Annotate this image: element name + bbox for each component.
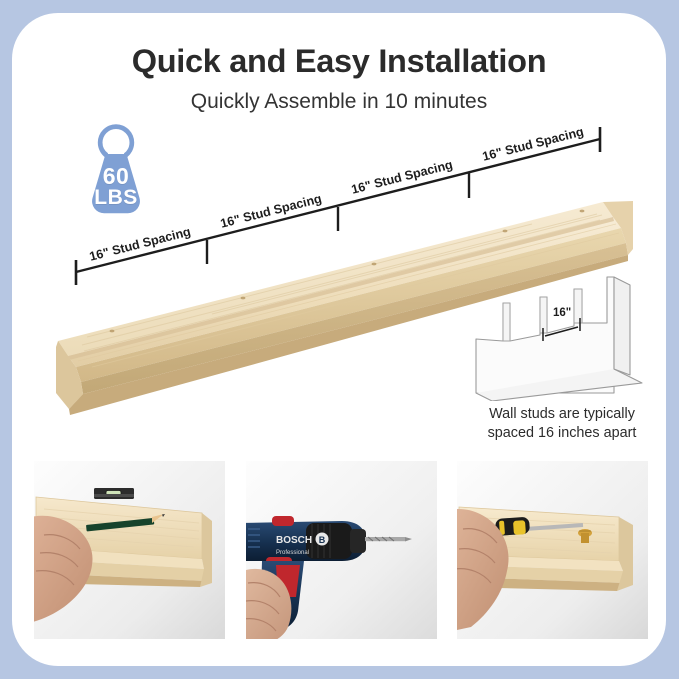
spirit-level — [94, 488, 134, 499]
dimension-label-segment-2: 16" Stud Spacing — [219, 192, 323, 231]
product-infographic: Quick and Easy Installation Quickly Asse… — [0, 0, 679, 679]
installation-steps-photos: BOSCH B Professional — [34, 461, 648, 639]
dimension-label-segment-3: 16" Stud Spacing — [350, 158, 454, 197]
page-title: Quick and Easy Installation — [12, 43, 666, 80]
dimension-label-segment-4: 16" Stud Spacing — [481, 125, 585, 164]
wall-stud-diagram: 16" — [464, 271, 654, 401]
svg-text:B: B — [318, 535, 325, 545]
content-card: Quick and Easy Installation Quickly Asse… — [12, 13, 666, 666]
drill-brand-label: BOSCH — [276, 535, 312, 546]
dimension-label-segment-1: 16" Stud Spacing — [88, 225, 192, 264]
stud-diagram-caption: Wall studs are typically spaced 16 inche… — [452, 405, 666, 443]
drill-brand-sublabel: Professional — [276, 550, 309, 556]
photo-drive-screw-with-screwdriver — [457, 461, 648, 639]
photo-drill-hole-in-wall: BOSCH B Professional — [246, 461, 437, 639]
stud-dimension-label: 16" — [553, 307, 571, 319]
photo-mark-wall-with-pencil — [34, 461, 225, 639]
